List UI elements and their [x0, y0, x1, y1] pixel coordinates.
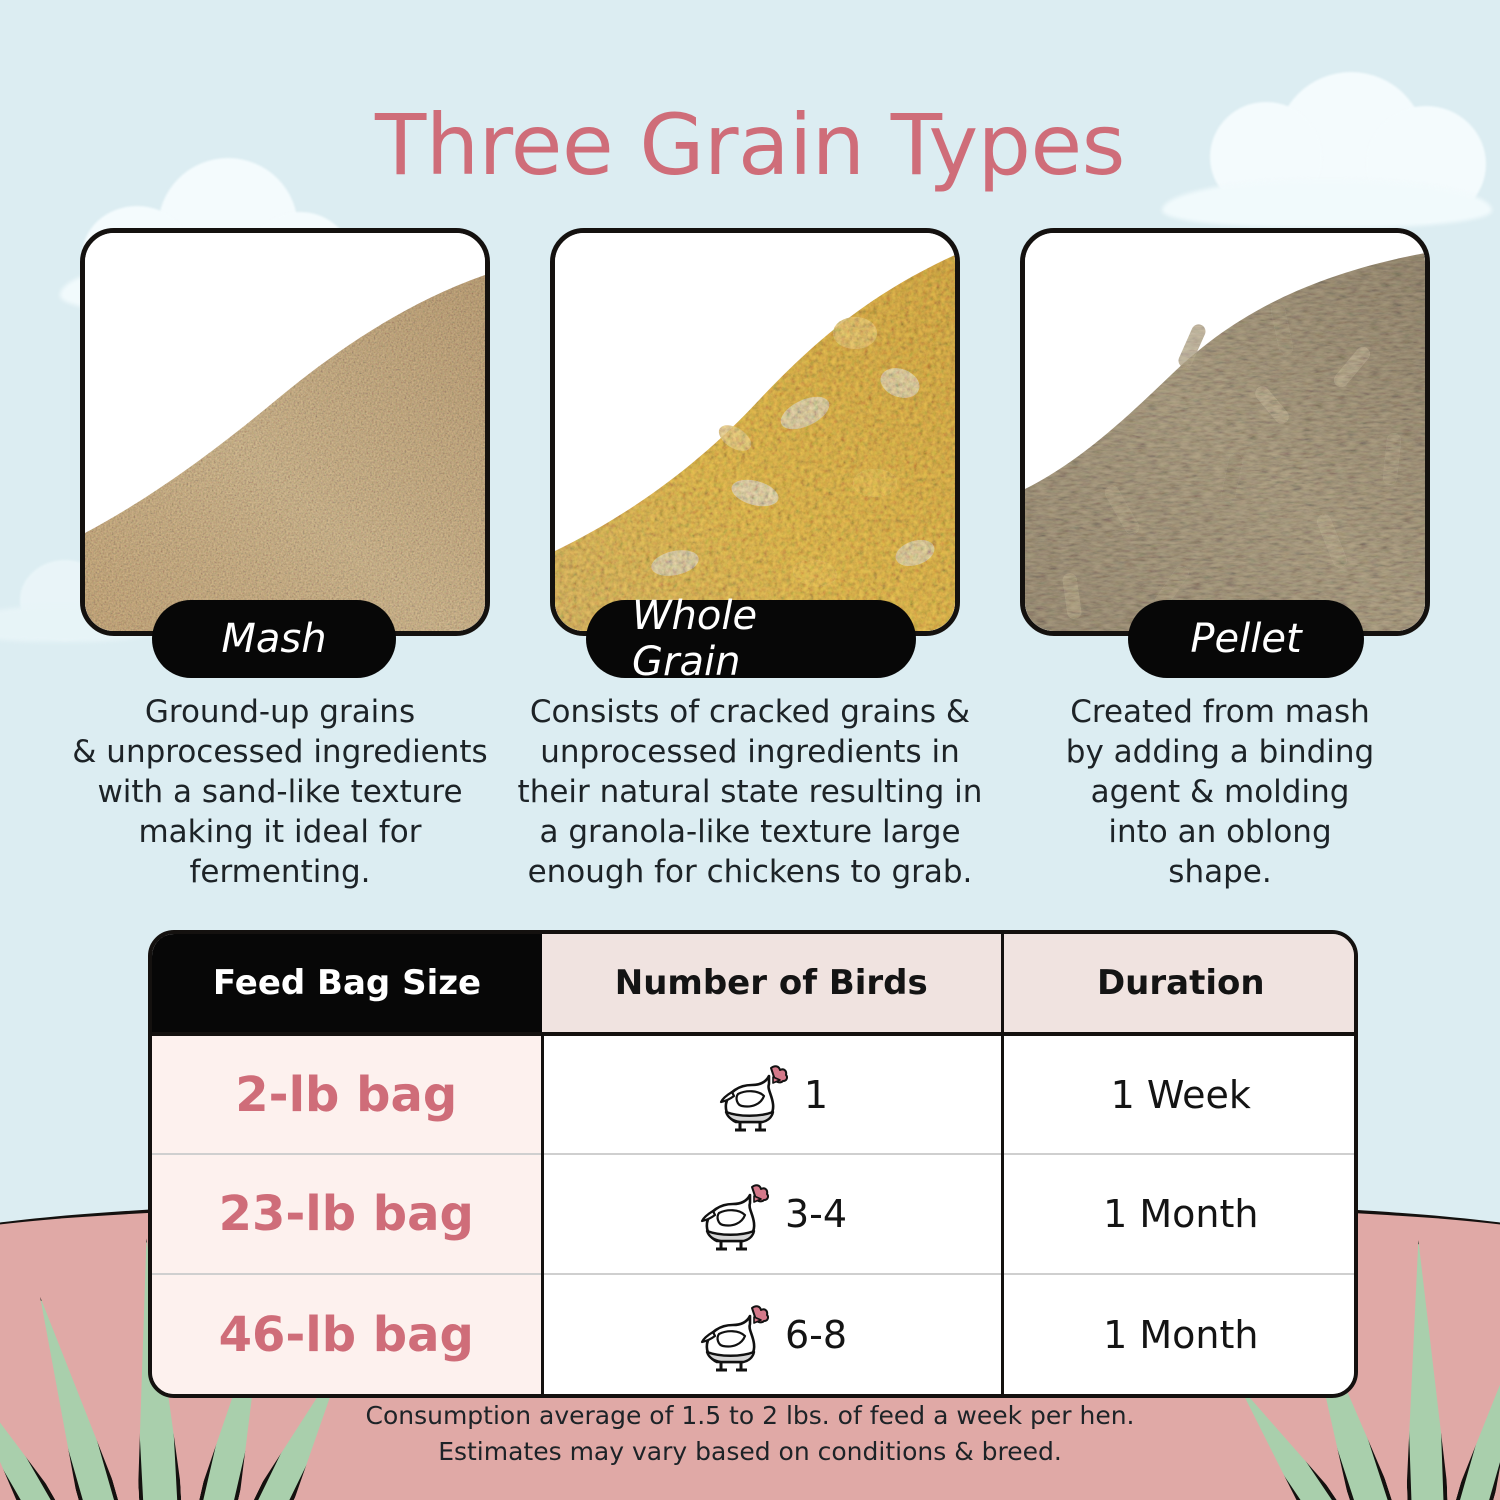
cell-bag-size: 23-lb bag	[152, 1154, 542, 1274]
table-row: 2-lb bag	[152, 1034, 1358, 1154]
table-row: 46-lb bag	[152, 1274, 1358, 1394]
grain-card-whole-grain[interactable]	[550, 228, 960, 636]
cell-bag-size: 46-lb bag	[152, 1274, 542, 1394]
cell-number-of-birds: 3-4	[542, 1154, 1002, 1274]
grain-label-mash: Mash	[152, 600, 396, 678]
column-header-feed-bag-size: Feed Bag Size	[152, 934, 542, 1034]
pellet-heap-icon	[1025, 233, 1425, 631]
page-title: Three Grain Types	[0, 96, 1500, 194]
grain-label-whole-grain: Whole Grain	[586, 600, 916, 678]
cell-number-of-birds: 6-8	[542, 1274, 1002, 1394]
column-header-duration: Duration	[1002, 934, 1358, 1034]
description-whole-grain: Consists of cracked grains & unprocessed…	[510, 692, 990, 892]
grain-label-text: Mash	[221, 616, 326, 662]
table-row: 23-lb bag	[152, 1154, 1358, 1274]
table-header-row: Feed Bag Size Number of Birds Duration	[152, 934, 1358, 1034]
chicken-icon	[697, 1177, 769, 1251]
description-mash: Ground-up grains & unprocessed ingredien…	[60, 692, 500, 892]
bird-count-text: 1	[804, 1073, 828, 1117]
footnote-text: Consumption average of 1.5 to 2 lbs. of …	[0, 1398, 1500, 1470]
grain-label-text: Whole Grain	[632, 593, 870, 685]
column-header-number-of-birds: Number of Birds	[542, 934, 1002, 1034]
grain-label-text: Pellet	[1190, 616, 1301, 662]
cell-duration: 1 Month	[1002, 1154, 1358, 1274]
feed-chart-table: Feed Bag Size Number of Birds Duration 2…	[148, 930, 1358, 1398]
cell-duration: 1 Week	[1002, 1034, 1358, 1154]
cell-number-of-birds: 1	[542, 1034, 1002, 1154]
bird-count-text: 3-4	[785, 1192, 847, 1236]
mash-heap-icon	[85, 233, 485, 631]
description-pellet: Created from mash by adding a binding ag…	[1020, 692, 1420, 892]
grain-card-row	[0, 228, 1500, 648]
chicken-icon	[716, 1058, 788, 1132]
bird-count-text: 6-8	[785, 1313, 847, 1357]
cell-duration: 1 Month	[1002, 1274, 1358, 1394]
infographic-canvas: Three Grain Types	[0, 0, 1500, 1500]
grain-label-pellet: Pellet	[1128, 600, 1364, 678]
cell-bag-size: 2-lb bag	[152, 1034, 542, 1154]
chicken-icon	[697, 1298, 769, 1372]
grain-card-mash[interactable]	[80, 228, 490, 636]
grain-card-pellet[interactable]	[1020, 228, 1430, 636]
whole-grain-heap-icon	[555, 233, 955, 631]
